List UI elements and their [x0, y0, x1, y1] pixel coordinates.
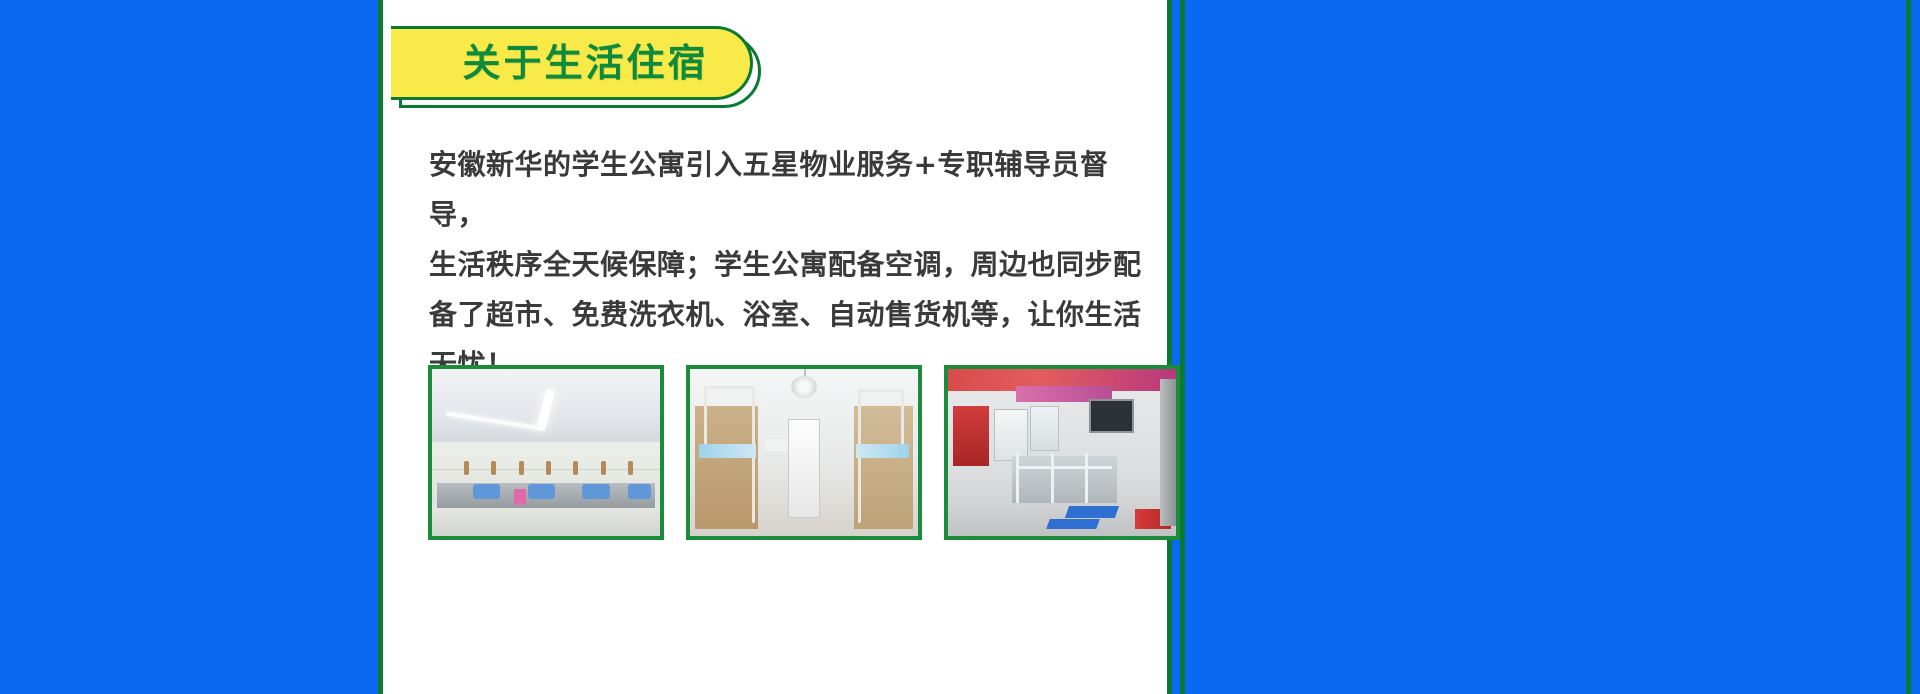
page-root: 关于生活住宿 安徽新华的学生公寓引入五星物业服务+专职辅导员督导， 生活秩序全天…: [0, 0, 1920, 694]
paragraph-line: 生活秩序全天候保障；学生公寓配备空调，周边也同步配: [429, 240, 1143, 290]
photo-dormitory: [686, 365, 922, 540]
section-paragraph: 安徽新华的学生公寓引入五星物业服务+专职辅导员督导， 生活秩序全天候保障；学生公…: [429, 140, 1143, 390]
green-rule-right-inner: [1180, 0, 1185, 694]
photo-gallery: [428, 365, 1180, 540]
green-rule-right-outer: [1906, 0, 1911, 694]
photo-entrance-image: [948, 369, 1176, 536]
photo-dormitory-image: [690, 369, 918, 536]
banner-pill: 关于生活住宿: [391, 26, 753, 100]
photo-entrance: [944, 365, 1180, 540]
photo-washroom: [428, 365, 664, 540]
page-title: 关于生活住宿: [432, 44, 708, 82]
section-title-banner: 关于生活住宿: [391, 26, 781, 110]
paragraph-line: 备了超市、免费洗衣机、浴室、自动售货机等，让你生活: [429, 290, 1143, 340]
content-panel: 关于生活住宿 安徽新华的学生公寓引入五星物业服务+专职辅导员督导， 生活秩序全天…: [378, 0, 1172, 694]
paragraph-line: 安徽新华的学生公寓引入五星物业服务+专职辅导员督导，: [429, 140, 1143, 240]
photo-washroom-image: [432, 369, 660, 536]
